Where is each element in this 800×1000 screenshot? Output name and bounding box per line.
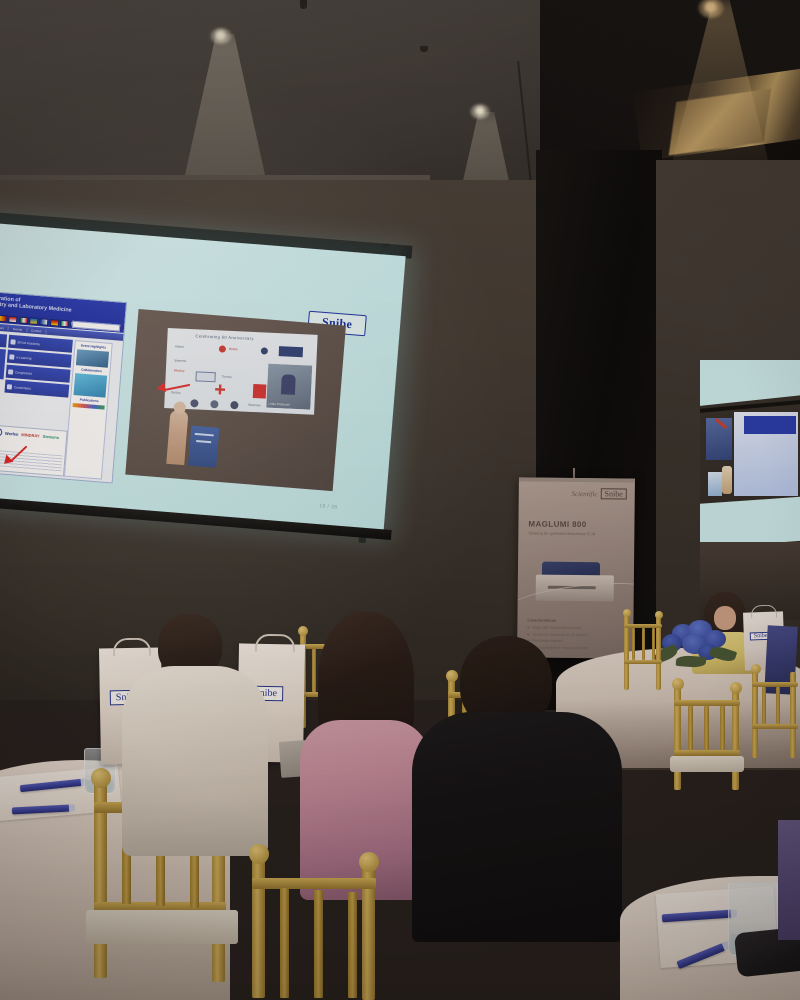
flower-centerpiece: [654, 620, 740, 672]
website-nav-item[interactable]: Members: [0, 324, 9, 330]
partner-logo-siemens: Siemens: [43, 433, 60, 439]
photo-logo-circle-2: [210, 400, 218, 408]
banner-logo: Scientific Snibe: [571, 488, 626, 500]
photo-speaker-head: [173, 401, 186, 414]
banner-product-name: MAGLUMI 800: [528, 520, 586, 530]
flower-leaf: [676, 655, 707, 668]
ceiling-spotlight-2-core: [476, 107, 484, 114]
ceiling-sprinkler-1: [300, 0, 307, 9]
banner-features-heading: Caracteristicas: [527, 617, 622, 623]
purple-object-right-edge: [778, 820, 800, 940]
photo-inset-caption: Linda Thienpont: [268, 402, 290, 407]
flag-icon: [19, 316, 29, 324]
mirror-reflection-box: [708, 472, 722, 496]
banner-logo-box: Snibe: [600, 488, 626, 499]
ceiling-spotlight-3-core: [705, 2, 716, 12]
website-tile[interactable]: Committees: [4, 380, 69, 398]
man-white-shirt: [122, 666, 268, 856]
mirror-reflection-bottle: [722, 466, 732, 494]
flower-leaf: [709, 644, 737, 663]
flag-icon: [29, 317, 39, 325]
flag-icon: [60, 320, 70, 328]
projection-screen: ns Snibe 16 / 28 European Federation ofC…: [0, 211, 413, 574]
photo-speaker-inset: Linda Thienpont: [265, 363, 313, 411]
tote-bag-handle: [751, 605, 777, 619]
photo-podium-line: [195, 433, 214, 437]
pen-tip: [69, 804, 75, 811]
conference-room-photo: ns Snibe 16 / 28 European Federation ofC…: [0, 0, 800, 1000]
partner-logo-werfen: Werfen: [5, 430, 19, 436]
slide-conference-photo: Celebrating 60 Anniversary Abbott Roche …: [125, 309, 346, 491]
website-nav-item[interactable]: Contact: [27, 328, 47, 334]
mirror-reflection-slide-blue: [744, 416, 796, 434]
photo-inset-person: [281, 374, 296, 395]
mirror-reflection-band-top: [700, 360, 800, 407]
man-suit-jacket: [412, 712, 622, 942]
website-sidebar-colorbar: [73, 403, 105, 410]
mirror-reflection-band-bottom: [700, 496, 800, 549]
website-link[interactable]: Corporate Members: [0, 347, 4, 355]
photo-logo-circle-3: [230, 401, 238, 409]
photo-logo-circle-1: [190, 399, 198, 407]
man-in-dark-suit: [420, 636, 640, 1000]
photo-logo-highlight-box: [195, 371, 215, 382]
photo-logo-red-cross: [215, 384, 225, 394]
ceiling-spotlight-1-core: [216, 31, 225, 39]
man-in-white-shirt: [122, 614, 274, 864]
partner-logo-mindray: MINDRAY: [21, 432, 40, 438]
flag-icon: [9, 316, 19, 324]
banner-logo-script: Scientific: [571, 489, 597, 497]
photo-logo-navy-box: [279, 346, 303, 357]
photo-podium-line: [196, 440, 211, 443]
photo-inner-screen-title: Celebrating 60 Anniversary: [195, 333, 254, 341]
flag-icon: [50, 319, 60, 327]
photo-red-arrow: [156, 375, 194, 400]
ceiling-sprinkler-2: [420, 46, 428, 52]
banquet-chair-back-far-right: [752, 670, 800, 770]
photo-podium: [188, 426, 219, 468]
website-nav-item[interactable]: Events: [9, 326, 27, 331]
website-tile[interactable]: National Societies: [0, 330, 7, 347]
slide-website-screenshot: European Federation ofClinical Chemistry…: [0, 288, 127, 483]
banner-product-subtitle: Sistema de quimioluminiscencia CLIA: [528, 530, 595, 536]
rollup-banner: Scientific Snibe MAGLUMI 800 Sistema de …: [517, 477, 635, 658]
photo-inner-screen: Celebrating 60 Anniversary Abbott Roche …: [164, 328, 317, 415]
banner-top-rail: [519, 477, 635, 482]
banquet-chair-back-right: [674, 686, 748, 806]
flag-icon: [39, 318, 49, 326]
partner-logo-roche: Roche: [0, 427, 2, 437]
website-sidebar-image: [76, 349, 109, 368]
website-sidebar-image-2: [73, 373, 107, 397]
mirror-wall-panel: [700, 360, 800, 620]
photo-logo-dark-dot: [261, 347, 268, 354]
flag-icon: [0, 315, 8, 323]
website-org-name: European Federation ofClinical Chemistry…: [0, 293, 80, 315]
banquet-chair-front-center: [252, 858, 382, 1000]
website-sidebar: Event Highlights Collaboration Publicati…: [64, 340, 113, 480]
banner-feature-item: Hasta 180 / 90 pruebas por hora: [527, 625, 622, 630]
photo-speaker-figure: [166, 410, 188, 465]
photo-logo-red-dot: [219, 345, 226, 352]
slide-page-number: 16 / 28: [319, 503, 338, 510]
red-arrow-annotation-partners: [3, 442, 31, 466]
projected-slide: ns Snibe 16 / 28 European Federation ofC…: [0, 222, 406, 531]
